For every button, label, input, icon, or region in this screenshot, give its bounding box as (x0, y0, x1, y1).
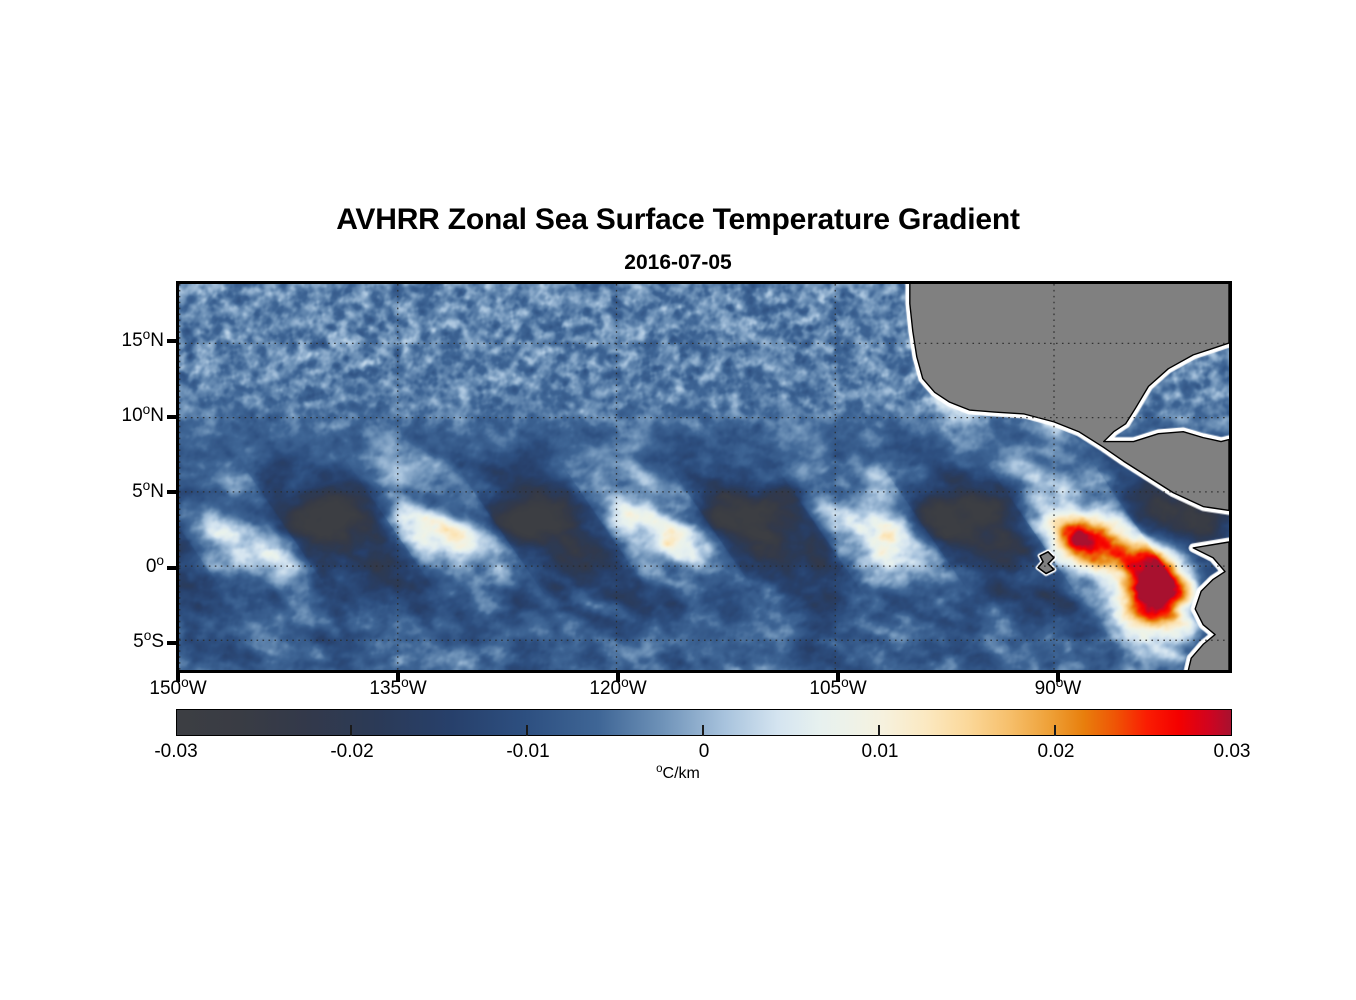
colorbar (176, 709, 1232, 736)
ytick-label-5s: 5oS (44, 631, 164, 653)
ytick-mark-10n (167, 415, 176, 419)
colorbar-label-pos003: 0.03 (1172, 741, 1292, 763)
colorbar-tick-1 (350, 725, 352, 736)
colorbar-label-neg001: -0.01 (468, 741, 588, 763)
colorbar-tick-5 (1054, 725, 1056, 736)
colorbar-label-pos002: 0.02 (996, 741, 1116, 763)
ytick-mark-5n (167, 490, 176, 494)
xtick-label-135w: 135oW (328, 678, 468, 700)
sst-gradient-heatmap (179, 284, 1229, 670)
colorbar-tick-3 (702, 725, 704, 736)
colorbar-tick-2 (526, 725, 528, 736)
colorbar-label-neg003: -0.03 (116, 741, 236, 763)
ytick-mark-0 (167, 566, 176, 570)
figure-canvas: AVHRR Zonal Sea Surface Temperature Grad… (0, 0, 1356, 1000)
colorbar-gradient (176, 709, 1232, 736)
colorbar-tick-4 (878, 725, 880, 736)
colorbar-unit-label: oC/km (0, 765, 1356, 783)
ytick-label-10n: 10oN (44, 405, 164, 427)
ytick-label-5n: 5oN (44, 481, 164, 503)
colorbar-label-zero: 0 (644, 741, 764, 763)
map-axes (176, 281, 1232, 673)
colorbar-label-neg002: -0.02 (292, 741, 412, 763)
xtick-label-150w: 150oW (108, 678, 248, 700)
ytick-label-15n: 15oN (44, 330, 164, 352)
ytick-mark-15n (167, 339, 176, 343)
figure-subtitle: 2016-07-05 (0, 251, 1356, 275)
ytick-mark-5s (167, 641, 176, 645)
colorbar-label-pos001: 0.01 (820, 741, 940, 763)
xtick-label-120w: 120oW (548, 678, 688, 700)
page-title: AVHRR Zonal Sea Surface Temperature Grad… (0, 203, 1356, 237)
ytick-label-0: 0o (44, 556, 164, 578)
xtick-label-105w: 105oW (768, 678, 908, 700)
xtick-label-90w: 90oW (988, 678, 1128, 700)
